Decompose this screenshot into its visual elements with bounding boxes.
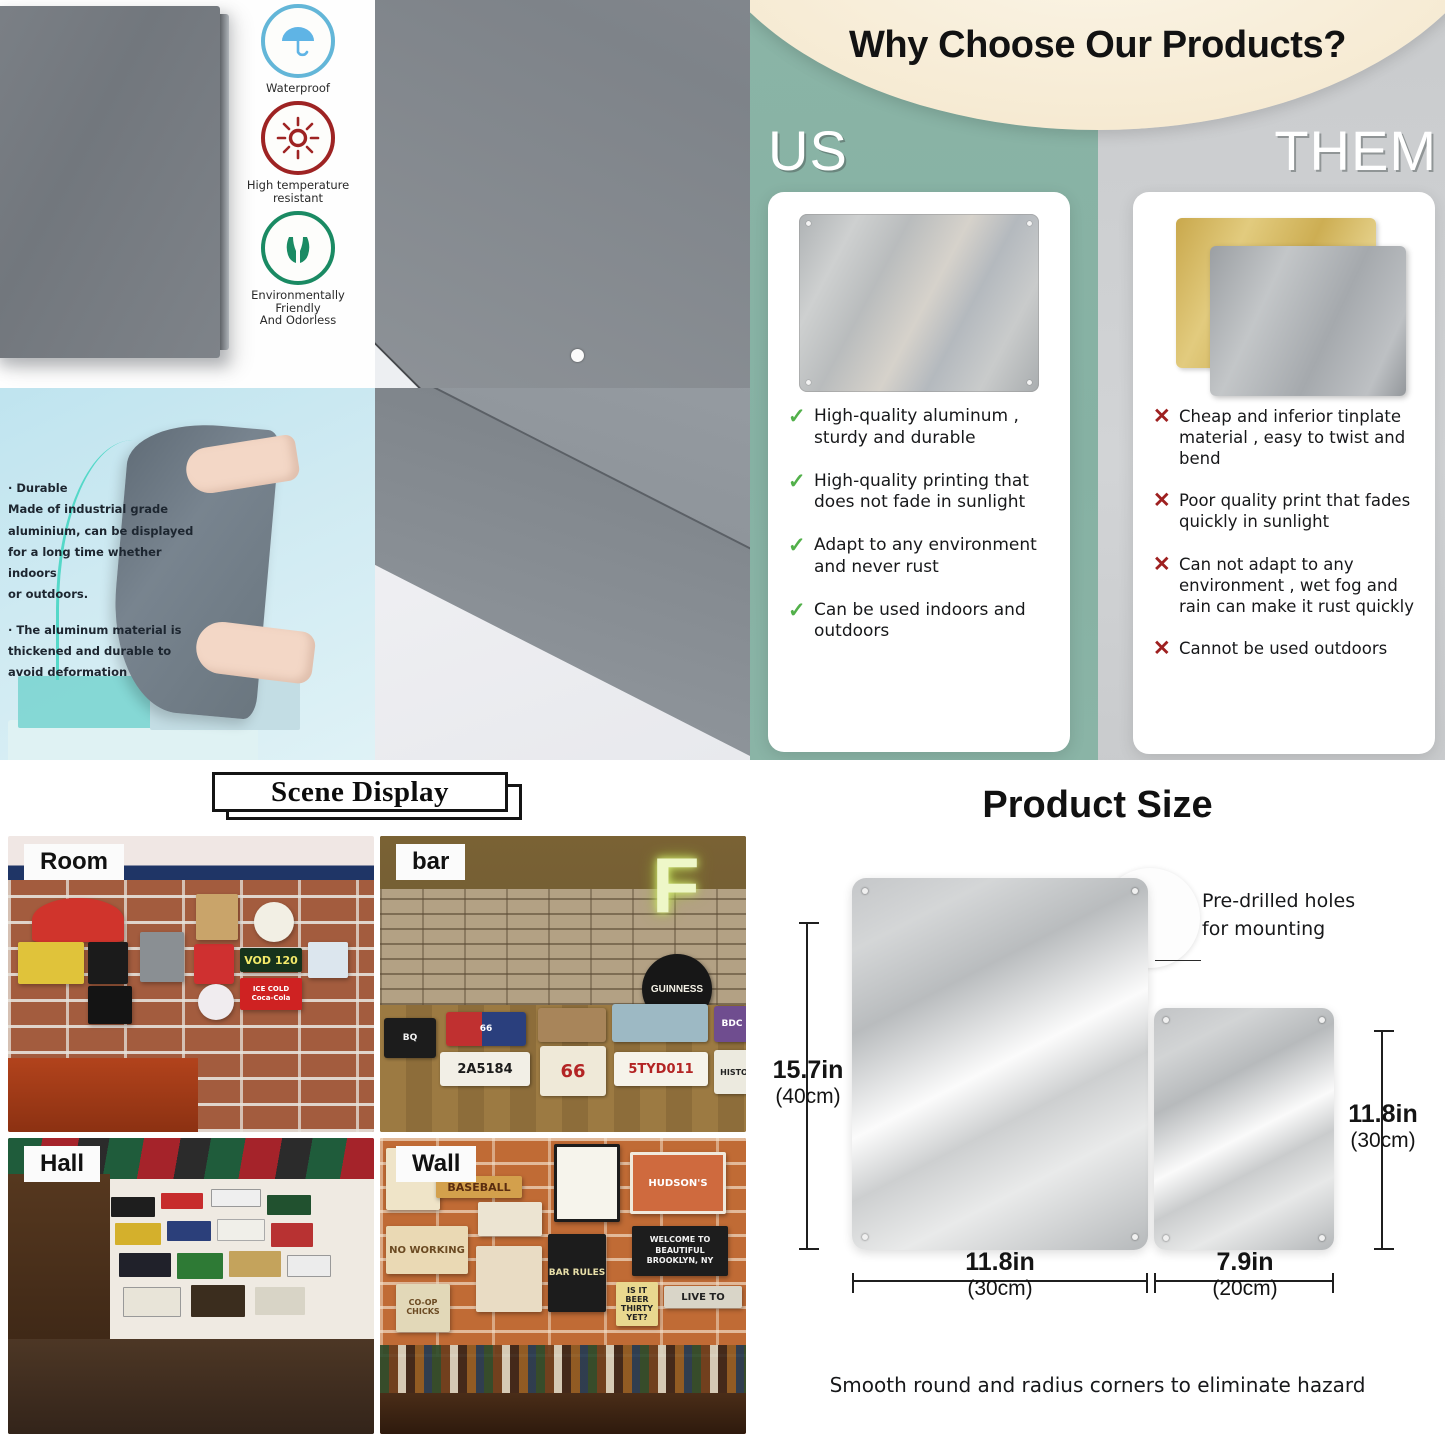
list-item: ✕ Can not adapt to any environment , wet…: [1153, 554, 1421, 617]
large-plate-diagram: [852, 878, 1148, 1250]
bar-counter: [380, 1393, 746, 1434]
hall-sign: [229, 1251, 281, 1277]
width-dimension-label-small: 7.9in (20cm): [1164, 1248, 1326, 1301]
dimension-cm: (40cm): [756, 1085, 860, 1109]
drawback-text: Cheap and inferior tinplate material , e…: [1179, 406, 1421, 469]
hall-sign: [115, 1223, 161, 1245]
hall-sign: [217, 1219, 265, 1241]
corner-hole: [1132, 888, 1138, 894]
product-size-section: Product Size Pre-drilled holes for mount…: [750, 760, 1445, 1445]
size-footer-note: Smooth round and radius corners to elimi…: [750, 1373, 1445, 1397]
us-card: ✓ High-quality aluminum , sturdy and dur…: [768, 192, 1070, 752]
scene-display-banner: Scene Display: [212, 772, 522, 820]
cross-icon: ✕: [1153, 554, 1179, 617]
wall-sign-coop-chicks: CO-OP CHICKS: [396, 1284, 450, 1332]
check-icon: ✓: [788, 406, 814, 450]
bar-license-plate: 5TYD011: [614, 1052, 708, 1086]
wall-sign-hudsons: HUDSON'S: [630, 1152, 726, 1214]
feature-label: High temperature resistant: [228, 179, 368, 205]
dimension-cm: (30cm): [1327, 1129, 1439, 1153]
them-product-image: [1164, 214, 1404, 392]
sign-covered-wall: [103, 1179, 374, 1351]
metal-sheet: [375, 0, 750, 388]
feature-label: Environmentally Friendly And Odorless: [228, 289, 368, 328]
scene-room: VOD 120 ICE COLD Coca-Cola Room: [8, 836, 374, 1132]
wall-sign: [308, 942, 348, 978]
bar-license-plate: 2A5184: [440, 1052, 530, 1086]
hall-sign: [287, 1255, 331, 1277]
dimension-cm: (20cm): [1164, 1277, 1326, 1301]
hall-sign: [167, 1221, 211, 1241]
sun-icon: [261, 101, 335, 175]
benefit-text: High-quality printing that does not fade…: [814, 471, 1056, 515]
bar-sign: [538, 1008, 606, 1042]
list-item: ✕ Poor quality print that fades quickly …: [1153, 490, 1421, 532]
benefit-text: Adapt to any environment and never rust: [814, 535, 1056, 579]
bar-sign-66: 66: [446, 1012, 526, 1046]
them-card: ✕ Cheap and inferior tinplate material ,…: [1133, 192, 1435, 754]
gray-tinplate: [1210, 246, 1406, 396]
durability-para-1: · Durable Made of industrial grade alumi…: [8, 478, 208, 606]
wall-sign: [196, 894, 238, 940]
dimension-inches: 11.8in: [1327, 1100, 1439, 1129]
hall-sign: [119, 1253, 171, 1277]
us-benefit-list: ✓ High-quality aluminum , sturdy and dur…: [788, 406, 1056, 664]
bar-sign-bq: BQ: [384, 1018, 436, 1058]
hall-sign: [191, 1285, 245, 1317]
hall-sign: [211, 1189, 261, 1207]
aluminum-plate: [799, 214, 1039, 392]
feature-waterproof: Waterproof: [228, 4, 368, 95]
feature-heat-resistant: High temperature resistant: [228, 101, 368, 205]
wall-sign-beer-thirty: IS IT BEER THIRTY YET?: [616, 1282, 658, 1326]
list-item: ✓ High-quality aluminum , sturdy and dur…: [788, 406, 1056, 450]
us-product-image: [799, 214, 1039, 392]
list-item: ✕ Cheap and inferior tinplate material ,…: [1153, 406, 1421, 469]
benefit-text: High-quality aluminum , sturdy and durab…: [814, 406, 1056, 450]
small-plate-diagram: [1154, 1008, 1334, 1250]
them-heading: THEM: [1274, 118, 1437, 183]
scene-hall: Hall: [8, 1138, 374, 1434]
eco-hands-icon: [261, 211, 335, 285]
wall-sign: [88, 986, 132, 1024]
sign-line: Coca-Cola: [252, 994, 291, 1003]
list-item: ✓ Adapt to any environment and never rus…: [788, 535, 1056, 579]
aluminum-plate-photo: [0, 6, 220, 358]
height-dimension-label-small: 11.8in (30cm): [1327, 1100, 1439, 1153]
height-dimension-label-large: 15.7in (40cm): [756, 1056, 860, 1109]
drawback-text: Can not adapt to any environment , wet f…: [1179, 554, 1421, 617]
check-icon: ✓: [788, 600, 814, 644]
list-item: ✓ High-quality printing that does not fa…: [788, 471, 1056, 515]
list-item: ✓ Can be used indoors and outdoors: [788, 600, 1056, 644]
corner-hole: [1319, 1235, 1325, 1241]
feature-icon-list: Waterproof High temperature resistant: [228, 4, 368, 333]
corner-hole: [806, 380, 811, 385]
check-icon: ✓: [788, 535, 814, 579]
scene-label-bar: bar: [396, 844, 465, 880]
banner-main-box: Scene Display: [212, 772, 508, 812]
hall-sign: [267, 1195, 311, 1215]
wooden-desk: [8, 1058, 198, 1132]
wood-pillar: [8, 1174, 110, 1358]
product-hero-panel: Waterproof High temperature resistant: [0, 0, 375, 388]
benefit-text: Can be used indoors and outdoors: [814, 600, 1056, 644]
hall-sign: [161, 1193, 203, 1209]
hall-floor-furniture: [8, 1339, 374, 1434]
durability-para-2: · The aluminum material is thickened and…: [8, 620, 208, 684]
wall-sign: [88, 942, 128, 984]
wall-sign: [18, 942, 84, 984]
liquor-bottles: [380, 1345, 746, 1392]
neon-letter-f: F: [652, 850, 708, 934]
dimension-inches: 11.8in: [898, 1248, 1102, 1277]
scene-label-wall: Wall: [396, 1146, 476, 1182]
corner-hole: [1163, 1235, 1169, 1241]
wall-sign-no-working: NO WORKING: [386, 1226, 468, 1274]
corner-hole: [806, 221, 811, 226]
mounting-hole: [571, 349, 584, 362]
wall-poster: [478, 1202, 542, 1236]
drawback-text: Poor quality print that fades quickly in…: [1179, 490, 1421, 532]
why-choose-section: Why Choose Our Products? US THEM ✓ High-…: [750, 0, 1445, 770]
wall-sign-live-to: LIVE TO: [664, 1286, 742, 1308]
metal-sheets-diagonal-photo: [375, 388, 750, 760]
scene-banner-label: Scene Display: [271, 776, 449, 809]
dimension-cm: (30cm): [898, 1277, 1102, 1301]
bar-sign-route66: 66: [540, 1046, 606, 1096]
product-size-title: Product Size: [750, 784, 1445, 827]
corner-hole: [1163, 1017, 1169, 1023]
corner-hole: [1027, 221, 1032, 226]
wall-sign-brooklyn: WELCOME TO BEAUTIFUL BROOKLYN, NY: [632, 1226, 728, 1276]
check-icon: ✓: [788, 471, 814, 515]
durability-text: · Durable Made of industrial grade alumi…: [8, 478, 208, 697]
hall-sign: [111, 1197, 155, 1217]
hall-sign: [123, 1287, 181, 1317]
umbrella-icon: [261, 4, 335, 78]
wall-sign: [140, 932, 184, 982]
wall-framed-poster: [554, 1144, 620, 1222]
wall-sign: [254, 902, 294, 942]
corner-hole: [1027, 380, 1032, 385]
corner-hole: [1319, 1017, 1325, 1023]
pre-drilled-holes-callout: Pre-drilled holes for mounting: [1202, 888, 1442, 943]
wall-sign-bar-rules: BAR RULES: [548, 1234, 606, 1312]
them-drawback-list: ✕ Cheap and inferior tinplate material ,…: [1153, 406, 1421, 681]
sign-line: ICE COLD: [253, 985, 289, 994]
dimension-inches: 7.9in: [1164, 1248, 1326, 1277]
cross-icon: ✕: [1153, 406, 1179, 469]
wall-sign: [32, 898, 124, 942]
wall-sign: [194, 944, 234, 984]
dimension-inches: 15.7in: [756, 1056, 860, 1085]
feature-eco-friendly: Environmentally Friendly And Odorless: [228, 211, 368, 328]
why-choose-title: Why Choose Our Products?: [750, 24, 1445, 67]
wall-poster: [476, 1246, 542, 1312]
wall-sign-cola: ICE COLD Coca-Cola: [240, 978, 302, 1010]
bar-sign-bdc: BDC: [714, 1006, 746, 1042]
scene-grid: VOD 120 ICE COLD Coca-Cola Room F GUINNE…: [8, 836, 746, 1436]
corner-hole: [862, 1234, 868, 1240]
scene-wall: BASEBALL HUDSON'S NO WORKING BAR RULES W…: [380, 1138, 746, 1434]
corner-hole: [862, 888, 868, 894]
width-dimension-label-large: 11.8in (30cm): [898, 1248, 1102, 1301]
hall-sign: [177, 1253, 223, 1279]
hall-sign: [255, 1287, 305, 1315]
corner-hole: [1132, 1234, 1138, 1240]
cross-icon: ✕: [1153, 638, 1179, 660]
cross-icon: ✕: [1153, 490, 1179, 532]
us-heading: US: [768, 118, 848, 183]
metal-sheet-corner-photo: [375, 0, 750, 388]
bar-sign: [612, 1004, 708, 1042]
scene-bar: F GUINNESS BQ 66 BDC 2A5184 66 5TYD011 H…: [380, 836, 746, 1132]
scene-label-hall: Hall: [24, 1146, 100, 1182]
product-infographic: Waterproof High temperature resistant: [0, 0, 1445, 1445]
feature-label: Waterproof: [228, 82, 368, 95]
list-item: ✕ Cannot be used outdoors: [1153, 638, 1421, 660]
callout-leader-line: [1155, 960, 1201, 961]
drawback-text: Cannot be used outdoors: [1179, 638, 1387, 660]
scene-label-room: Room: [24, 844, 124, 880]
hall-sign: [271, 1223, 313, 1247]
wall-sign: [198, 984, 234, 1020]
bar-sign-histo: HISTO: [714, 1050, 746, 1094]
wall-sign-vod: VOD 120: [240, 948, 302, 972]
